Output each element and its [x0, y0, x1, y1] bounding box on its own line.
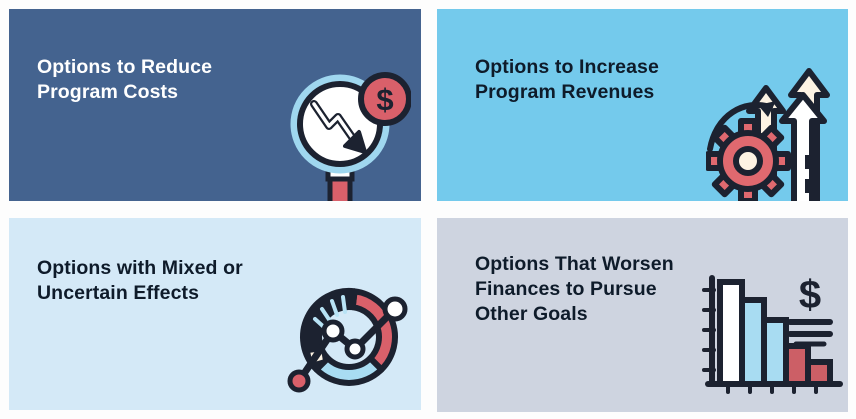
options-category-grid: Options to Reduce Program Costs $ Opt	[0, 0, 856, 419]
gear-rising-arrows-icon	[706, 57, 846, 201]
panel-reduce-costs-title: Options to Reduce Program Costs	[37, 55, 212, 105]
panel-worsen-finances-title: Options That Worsen Finances to Pursue O…	[475, 252, 674, 327]
svg-text:$: $	[799, 273, 821, 317]
panel-increase-revenues[interactable]: Options to Increase Program Revenues	[437, 9, 848, 201]
panel-mixed-effects[interactable]: Options with Mixed or Uncertain Effects	[9, 218, 421, 410]
panel-mixed-effects-title: Options with Mixed or Uncertain Effects	[37, 256, 243, 306]
declining-bar-chart-dollar-icon: $	[698, 268, 848, 408]
svg-text:$: $	[376, 82, 393, 117]
panel-increase-revenues-title: Options to Increase Program Revenues	[475, 55, 659, 105]
panel-worsen-finances[interactable]: Options That Worsen Finances to Pursue O…	[437, 218, 848, 412]
magnifier-declining-chart-dollar-icon: $	[281, 68, 411, 201]
panel-reduce-costs[interactable]: Options to Reduce Program Costs $	[9, 9, 421, 201]
donut-chart-trendline-icon	[273, 273, 413, 408]
